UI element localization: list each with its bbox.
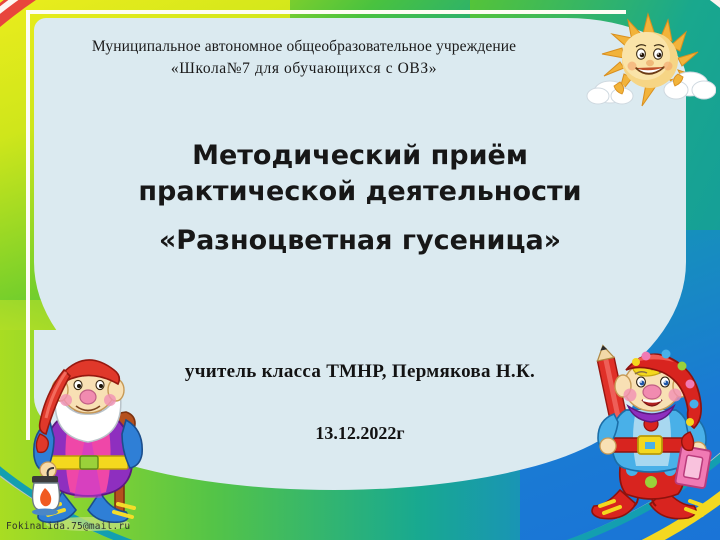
- date-line: 13.12.2022г: [60, 423, 660, 444]
- frame-line-top: [26, 10, 626, 14]
- presentation-slide: Муниципальное автономное общеобразовател…: [0, 0, 720, 540]
- author-line: учитель класса ТМНР, Пермякова Н.К.: [60, 361, 660, 383]
- content-panel-bottom: [34, 330, 634, 490]
- title-line-1: Методический приём: [192, 140, 528, 171]
- frame-line-left: [26, 10, 30, 440]
- title-line-2: практической деятельности: [138, 176, 581, 207]
- title-line-3: «Разноцветная гусеница»: [60, 223, 660, 259]
- watermark-email: FokinaLida.75@mail.ru: [6, 521, 130, 532]
- organization-line-1: Муниципальное автономное общеобразовател…: [34, 36, 574, 58]
- organization-name: Муниципальное автономное общеобразовател…: [34, 36, 574, 80]
- slide-title: Методический приём практической деятельн…: [60, 138, 660, 259]
- organization-line-2: «Школа№7 для обучающихся с ОВЗ»: [34, 58, 574, 80]
